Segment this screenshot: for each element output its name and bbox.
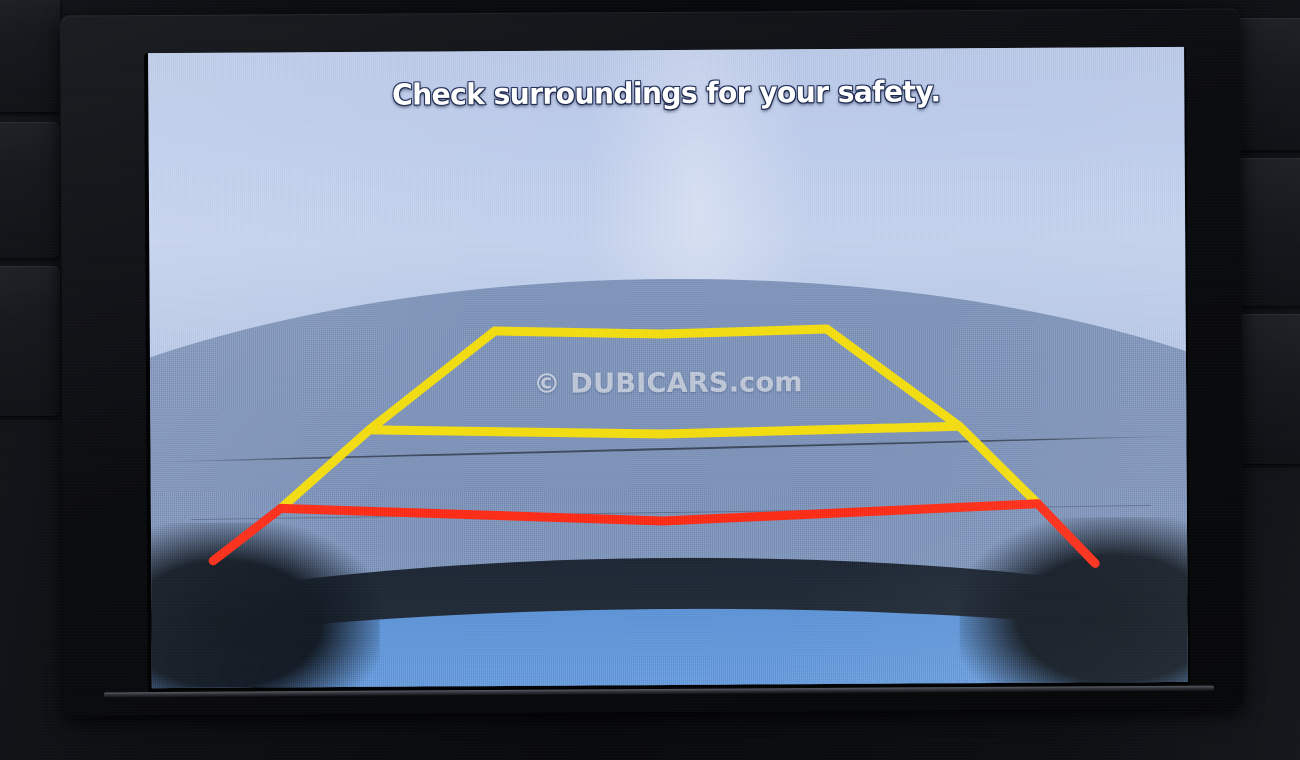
guide-right-rail-yellow	[827, 328, 1038, 505]
guide-left-rail-red	[213, 508, 281, 560]
left-button-bank	[0, 0, 60, 760]
left-button-2[interactable]	[0, 122, 60, 258]
guide-far-distance-bar	[495, 329, 827, 335]
left-button-3[interactable]	[0, 266, 60, 416]
guide-close-distance-bar	[281, 504, 1038, 524]
dashboard-panel: Check surroundings for your safety. © DU…	[0, 0, 1300, 760]
lcd-display[interactable]: Check surroundings for your safety. © DU…	[148, 47, 1188, 688]
dubicars-watermark: © DUBICARS.com	[150, 365, 1186, 402]
safety-warning-text: Check surroundings for your safety.	[164, 73, 1169, 113]
guide-left-rail-yellow	[280, 331, 496, 508]
left-button-1[interactable]	[0, 0, 60, 112]
guide-mid-distance-bar	[369, 426, 959, 436]
rear-camera-view: Check surroundings for your safety. © DU…	[148, 47, 1188, 688]
guide-right-rail-red	[1038, 503, 1095, 563]
